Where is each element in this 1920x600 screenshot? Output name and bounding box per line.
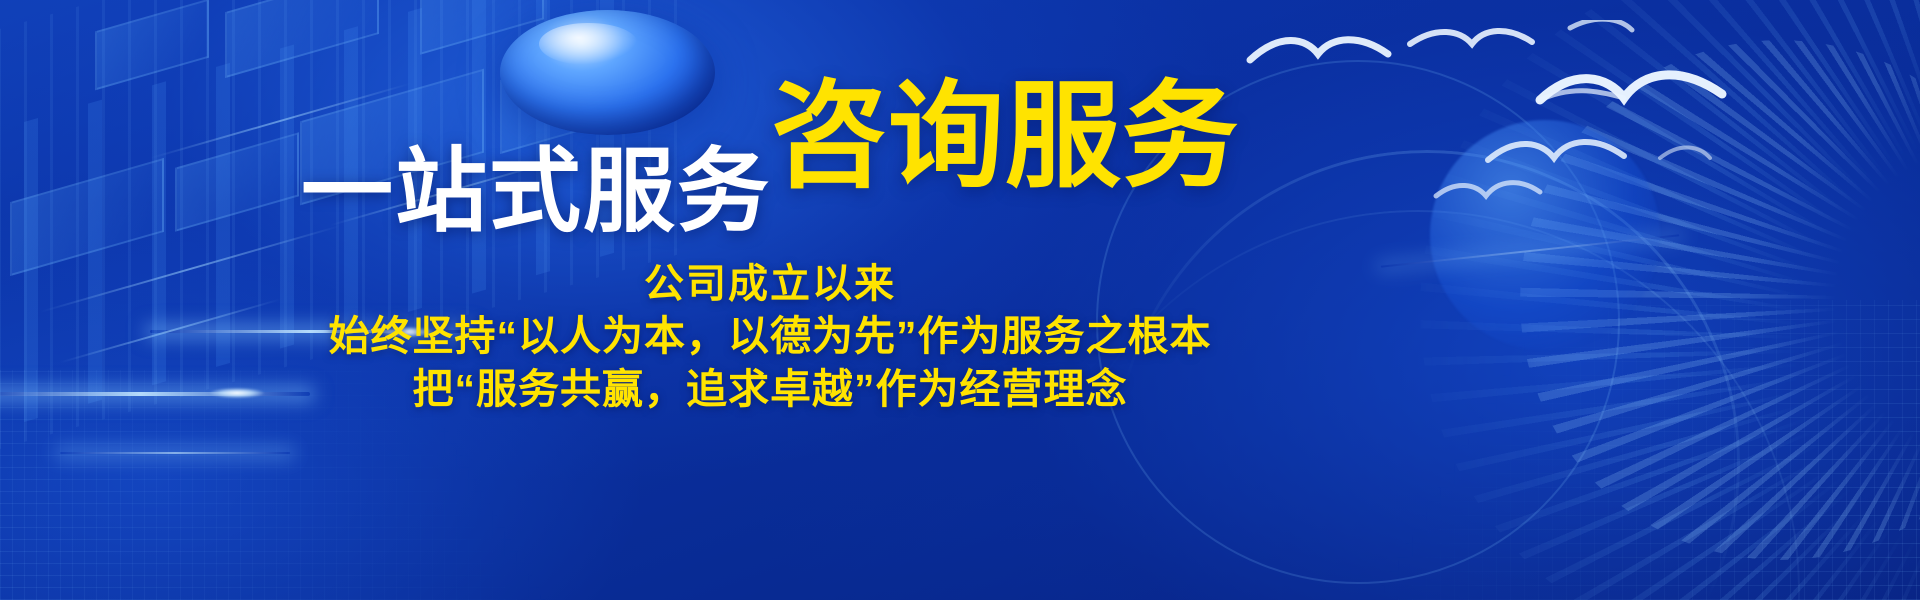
subtext-line-3: 把“服务共赢，追求卓越”作为经营理念 [0, 363, 1540, 416]
geometric-plate [225, 0, 379, 78]
subtext-line-2: 始终坚持“以人为本，以德为先”作为服务之根本 [0, 310, 1540, 363]
banner-headline: 一站式服务 咨询服务 [0, 78, 1540, 194]
subtext-line-1: 公司成立以来 [0, 258, 1540, 310]
headline-white-text: 一站式服务 [301, 146, 771, 238]
light-streak [60, 452, 290, 454]
geometric-plate [420, 0, 544, 55]
promo-banner: 一站式服务 咨询服务 公司成立以来 始终坚持“以人为本，以德为先”作为服务之根本… [0, 0, 1920, 600]
geometric-plate [95, 0, 209, 90]
banner-subtext: 公司成立以来 始终坚持“以人为本，以德为先”作为服务之根本 把“服务共赢，追求卓… [0, 258, 1540, 417]
headline-yellow-text: 咨询服务 [771, 78, 1239, 194]
radial-fan-icon [1520, 40, 1920, 560]
